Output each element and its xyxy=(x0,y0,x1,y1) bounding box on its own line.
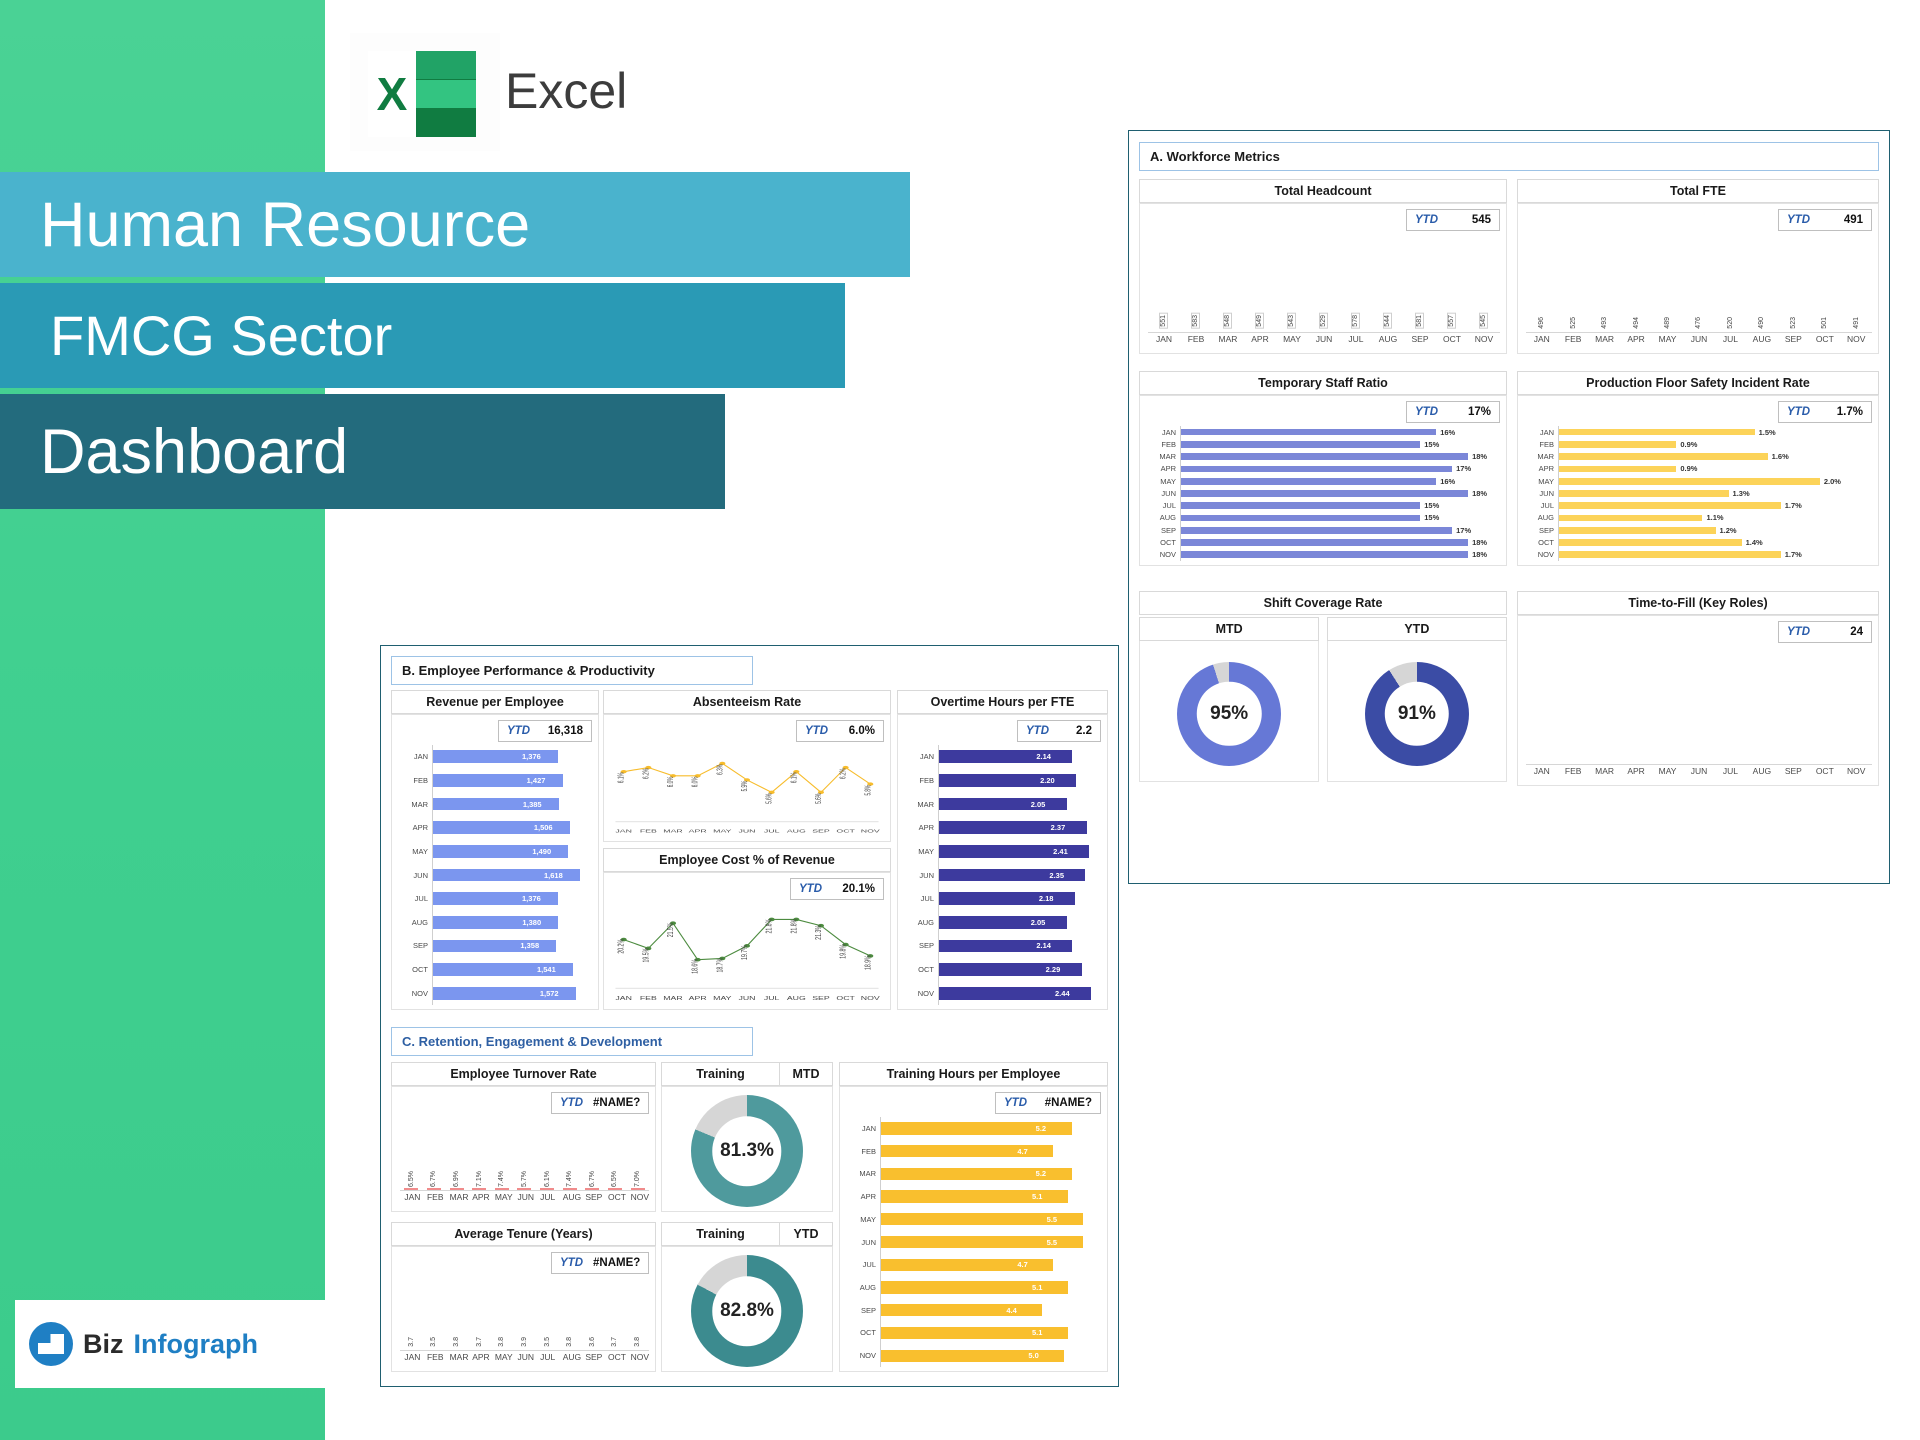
bar-row: OCT 2.29 xyxy=(904,958,1101,982)
kpi-value: #NAME? xyxy=(593,1257,648,1269)
bar-row: JUN 5.5 xyxy=(846,1231,1101,1254)
svg-text:NOV: NOV xyxy=(861,995,880,1002)
bar-fill xyxy=(1181,515,1420,522)
bar-value-label: 1.5% xyxy=(1755,428,1776,437)
axis-tick-label: MAR xyxy=(1218,334,1238,349)
bar-fill xyxy=(1181,527,1452,534)
donut-chart: 95% xyxy=(1177,662,1281,766)
bar-value-label: 1.7% xyxy=(1781,550,1802,559)
axis-tick-label: APR xyxy=(472,1352,486,1367)
line-chart: 20.2%19.5%21.5%18.6%18.7%19.7%21.8%21.8%… xyxy=(610,901,884,1005)
bar-value-label: 523 xyxy=(1790,317,1797,329)
svg-text:APR: APR xyxy=(689,995,707,1002)
bar-category-label: MAR xyxy=(398,800,432,809)
svg-text:JAN: JAN xyxy=(615,828,632,833)
column-chart: 6.5% 6.7% 6.9% 7.1% 7.4% 5.7% 6.1% 7.4% … xyxy=(400,1117,649,1207)
bar-value-label: 3.7 xyxy=(408,1337,415,1347)
bar-value-label: 15% xyxy=(1420,513,1439,522)
donut-chart: 81.3% xyxy=(691,1095,803,1207)
bar-category-label: AUG xyxy=(1524,513,1558,522)
bar-row: NOV 5.0 xyxy=(846,1344,1101,1367)
bar-value-label: 5.5 xyxy=(1043,1215,1057,1224)
axis-tick-label: MAR xyxy=(1595,766,1614,781)
donut-center-label: 82.8% xyxy=(691,1255,803,1367)
bar-category-label: JUN xyxy=(904,871,938,880)
bar-value-label: 1,572 xyxy=(536,989,559,998)
employee-turnover-rate-title: Employee Turnover Rate xyxy=(391,1062,656,1086)
bar-fill xyxy=(939,940,1072,953)
column-chart: 496 525 493 494 489 476 520 490 523 501 … xyxy=(1526,234,1872,349)
bar-row: APR 17% xyxy=(1146,463,1500,475)
bar-row: SEP 1,358 xyxy=(398,934,592,958)
title-band-primary: Human Resource xyxy=(0,172,910,277)
bar-value-label: 551 xyxy=(1159,313,1168,329)
bar-category-label: JUL xyxy=(1146,501,1180,510)
kpi-value: 545 xyxy=(1448,214,1499,226)
axis-tick-label: JAN xyxy=(1532,766,1551,781)
bar-value-label: 1,380 xyxy=(518,918,541,927)
bar-value-label: 2.29 xyxy=(1042,965,1061,974)
bar-category-label: MAR xyxy=(1146,452,1180,461)
bar-row: NOV 18% xyxy=(1146,549,1500,561)
axis-tick-label: JAN xyxy=(1532,334,1551,349)
bar-value-label: 581 xyxy=(1415,313,1424,329)
bar-row: JUN 1.3% xyxy=(1524,487,1872,499)
svg-text:6.0%: 6.0% xyxy=(667,777,676,788)
bar-value-label: 5.0 xyxy=(1024,1351,1038,1360)
axis-tick-label: JUL xyxy=(540,1352,554,1367)
svg-text:18.7%: 18.7% xyxy=(716,958,724,973)
svg-text:SEP: SEP xyxy=(812,828,830,833)
kpi-badge: YTD 16,318 xyxy=(498,720,592,742)
absenteeism_rate-title: Absenteeism Rate xyxy=(603,690,891,714)
bar-category-label: AUG xyxy=(398,918,432,927)
bar-row: MAY 1,490 xyxy=(398,840,592,864)
bar-fill xyxy=(939,798,1067,811)
axis-tick-label: APR xyxy=(1250,334,1270,349)
biz-name-first: Biz xyxy=(83,1329,124,1360)
kpi-badge: YTD 6.0% xyxy=(796,720,884,742)
axis-tick-label: OCT xyxy=(1442,334,1462,349)
bar-fill xyxy=(939,750,1072,763)
bar-fill xyxy=(939,892,1075,905)
bar-fill xyxy=(1181,551,1468,558)
bar-row: AUG 1.1% xyxy=(1524,512,1872,524)
axis-tick-label: NOV xyxy=(1474,334,1494,349)
kpi-label: YTD xyxy=(1779,406,1820,418)
axis-tick-label: MAY xyxy=(1658,334,1677,349)
bar-value-label: 30 xyxy=(1601,753,1608,761)
bar-category-label: APR xyxy=(398,823,432,832)
bar-row: JUN 18% xyxy=(1146,487,1500,499)
horizontal-bar-chart: JAN 2.14 FEB 2.20 MAR 2.05 APR 2.37 MAY … xyxy=(904,745,1101,1005)
total_headcount-title: Total Headcount xyxy=(1139,179,1507,203)
bar-value-label: 30 xyxy=(1853,753,1860,761)
bar-category-label: APR xyxy=(846,1192,880,1201)
overtime_hours_per_fte-plot: YTD 2.2 JAN 2.14 FEB 2.20 MAR 2.05 APR 2… xyxy=(897,714,1108,1010)
bar-value-label: 16% xyxy=(1436,428,1455,437)
title-band-secondary: FMCG Sector xyxy=(0,283,845,388)
title-band-tertiary: Dashboard xyxy=(0,394,725,509)
axis-tick-label: APR xyxy=(472,1192,486,1207)
bar-fill xyxy=(1559,490,1729,497)
temporary_staff_ratio-plot: YTD 17% JAN 16% FEB 15% MAR 18% APR 17% … xyxy=(1139,395,1507,566)
bar-category-label: JAN xyxy=(1524,428,1558,437)
kpi-value: 6.0% xyxy=(838,725,883,737)
svg-text:FEB: FEB xyxy=(640,995,657,1002)
bar-column: 7.4% xyxy=(495,1188,509,1190)
bar-value-label: 2.14 xyxy=(1032,752,1051,761)
revenue_per_employee-plot: YTD 16,318 JAN 1,376 FEB 1,427 MAR 1,385… xyxy=(391,714,599,1010)
svg-text:MAY: MAY xyxy=(713,828,732,833)
bar-value-label: 583 xyxy=(1191,313,1200,329)
bar-value-label: 5.7% xyxy=(521,1171,528,1187)
bar-value-label: 2.37 xyxy=(1047,823,1066,832)
axis-tick-label: AUG xyxy=(563,1352,577,1367)
bar-value-label: 3.6 xyxy=(589,1337,596,1347)
bar-value-label: 3.7 xyxy=(611,1337,618,1347)
biz-name-second: Infograph xyxy=(134,1329,258,1360)
svg-text:OCT: OCT xyxy=(836,995,855,1002)
svg-text:MAR: MAR xyxy=(663,995,682,1002)
bar-category-label: MAR xyxy=(1524,452,1558,461)
svg-text:JUL: JUL xyxy=(764,995,780,1002)
bar-value-label: 3.5 xyxy=(544,1337,551,1347)
column-chart: 551 583 548 549 543 529 578 544 581 557 … xyxy=(1148,234,1500,349)
bar-value-label: 1,385 xyxy=(519,800,542,809)
bar-category-label: NOV xyxy=(846,1351,880,1360)
bar-row: OCT 5.1 xyxy=(846,1322,1101,1345)
bar-category-label: JAN xyxy=(1146,428,1180,437)
bar-row: MAR 1,385 xyxy=(398,792,592,816)
bar-category-label: NOV xyxy=(904,989,938,998)
kpi-label: YTD xyxy=(552,1257,593,1269)
bar-fill xyxy=(1181,441,1420,448)
performance-productivity-panel: B. Employee Performance & Productivity R… xyxy=(380,645,1119,1387)
donut-center-label: 95% xyxy=(1177,662,1281,766)
bar-column: 7.4% xyxy=(563,1188,577,1190)
bar-category-label: FEB xyxy=(1146,440,1180,449)
kpi-label: YTD xyxy=(1779,626,1820,638)
title-line-1: Human Resource xyxy=(0,189,530,261)
training-hours-title: Training Hours per Employee xyxy=(839,1062,1108,1086)
axis-tick-label: APR xyxy=(1626,334,1645,349)
average-tenure-title: Average Tenure (Years) xyxy=(391,1222,656,1246)
bar-row: JAN 16% xyxy=(1146,426,1500,438)
axis-tick-label: JAN xyxy=(1154,334,1174,349)
bar-value-label: 548 xyxy=(1223,313,1232,329)
kpi-value: 24 xyxy=(1820,626,1871,638)
svg-text:MAR: MAR xyxy=(663,828,682,833)
bar-row: AUG 5.1 xyxy=(846,1276,1101,1299)
bar-fill xyxy=(939,774,1076,787)
kpi-label: YTD xyxy=(499,725,540,737)
bar-category-label: JAN xyxy=(846,1124,880,1133)
bar-fill xyxy=(939,916,1067,929)
axis-tick-label: JUN xyxy=(517,1352,531,1367)
svg-text:5.9%: 5.9% xyxy=(741,781,750,792)
svg-text:FEB: FEB xyxy=(640,828,657,833)
safety_incident_rate-title: Production Floor Safety Incident Rate xyxy=(1517,371,1879,395)
axis-tick-label: AUG xyxy=(563,1192,577,1207)
axis-tick-label: MAY xyxy=(1658,766,1677,781)
bar-value-label: 19 xyxy=(1790,753,1797,761)
shift-coverage-group-title: Shift Coverage Rate xyxy=(1139,591,1507,615)
kpi-value: 16,318 xyxy=(540,725,591,737)
bar-row: MAR 5.2 xyxy=(846,1162,1101,1185)
axis-tick-label: MAR xyxy=(450,1192,464,1207)
bar-row: OCT 18% xyxy=(1146,536,1500,548)
bar-value-label: 544 xyxy=(1383,313,1392,329)
bar-value-label: 545 xyxy=(1479,313,1488,329)
bar-value-label: 1.4% xyxy=(1742,538,1763,547)
bar-row: APR 5.1 xyxy=(846,1185,1101,1208)
bar-value-label: 501 xyxy=(1821,317,1828,329)
horizontal-bar-chart: JAN 1.5% FEB 0.9% MAR 1.6% APR 0.9% MAY … xyxy=(1524,426,1872,561)
bar-value-label: 18% xyxy=(1468,452,1487,461)
bar-category-label: MAY xyxy=(398,847,432,856)
excel-icon-letter: X xyxy=(368,51,416,137)
revenue_per_employee-title: Revenue per Employee xyxy=(391,690,599,714)
bar-row: APR 1,506 xyxy=(398,816,592,840)
bar-value-label: 496 xyxy=(1538,317,1545,329)
bar-row: JUL 1,376 xyxy=(398,887,592,911)
bar-row: JUL 15% xyxy=(1146,500,1500,512)
donut-center-label: 91% xyxy=(1365,662,1469,766)
bar-category-label: NOV xyxy=(398,989,432,998)
axis-tick-label: FEB xyxy=(1563,334,1582,349)
kpi-value: 491 xyxy=(1820,214,1871,226)
bar-value-label: 7.4% xyxy=(498,1171,505,1187)
kpi-value: #NAME? xyxy=(1037,1097,1100,1109)
bar-fill xyxy=(1559,551,1781,558)
bar-row: SEP 1.2% xyxy=(1524,524,1872,536)
bar-value-label: 3.9 xyxy=(521,1337,528,1347)
kpi-label: YTD xyxy=(1407,406,1448,418)
bar-fill xyxy=(881,1304,1042,1316)
bar-fill xyxy=(1559,466,1676,473)
training-completion-ytd-title: Training Completion RateYTD xyxy=(661,1222,833,1246)
svg-text:6.3%: 6.3% xyxy=(716,764,725,775)
kpi-value: #NAME? xyxy=(593,1097,648,1109)
kpi-value: 1.7% xyxy=(1820,406,1871,418)
employee_turnover_rate-card: Employee Turnover Rate YTD #NAME? 6.5% 6… xyxy=(391,1062,656,1212)
axis-tick-label: JUN xyxy=(1314,334,1334,349)
svg-text:APR: APR xyxy=(689,828,707,833)
kpi-badge: YTD 24 xyxy=(1778,621,1872,643)
bar-category-label: MAY xyxy=(1146,477,1180,486)
training-completion-mtd-title: Training Completion RateMTD xyxy=(661,1062,833,1086)
axis-tick-label: FEB xyxy=(1186,334,1206,349)
svg-text:21.3%: 21.3% xyxy=(815,925,823,940)
bar-value-label: 5.2 xyxy=(1032,1169,1046,1178)
time_to_fill-card: Time-to-Fill (Key Roles) YTD 24 31 24 30… xyxy=(1517,591,1879,786)
bar-column: 6.5% xyxy=(404,1188,418,1190)
axis-tick-label: AUG xyxy=(1752,766,1771,781)
bar-value-label: 15% xyxy=(1420,501,1439,510)
axis-tick-label: OCT xyxy=(1815,334,1834,349)
bar-fill xyxy=(1559,453,1768,460)
bar-value-label: 6.1% xyxy=(544,1171,551,1187)
axis-tick-label: FEB xyxy=(1563,766,1582,781)
donut-chart: 82.8% xyxy=(691,1255,803,1367)
time_to_fill-title: Time-to-Fill (Key Roles) xyxy=(1517,591,1879,615)
training-hours-plot: YTD #NAME? JAN 5.2 FEB 4.7 MAR 5.2 APR 5… xyxy=(839,1086,1108,1372)
employee_cost_pct_revenue-card: Employee Cost % of Revenue YTD 20.1% 20.… xyxy=(603,848,891,1010)
kpi-badge: YTD #NAME? xyxy=(551,1252,649,1274)
bar-row: JUL 1.7% xyxy=(1524,500,1872,512)
bar-fill xyxy=(1181,429,1436,436)
bar-value-label: 31 xyxy=(1538,753,1545,761)
axis-tick-label: SEP xyxy=(1784,766,1803,781)
total_fte-plot: YTD 491 496 525 493 494 489 476 520 490 … xyxy=(1517,203,1879,354)
shift-coverage-mtd-title: MTD xyxy=(1139,617,1319,641)
total_headcount-card: Total Headcount YTD 545 551 583 548 549 … xyxy=(1139,179,1507,354)
employee_cost_pct_revenue-title: Employee Cost % of Revenue xyxy=(603,848,891,872)
bar-row: SEP 17% xyxy=(1146,524,1500,536)
kpi-badge: YTD #NAME? xyxy=(995,1092,1101,1114)
svg-text:18.6%: 18.6% xyxy=(692,959,700,974)
temporary_staff_ratio-card: Temporary Staff Ratio YTD 17% JAN 16% FE… xyxy=(1139,371,1507,566)
biz-logo-icon xyxy=(29,1322,73,1366)
svg-text:19.5%: 19.5% xyxy=(642,948,650,963)
bar-row: MAR 1.6% xyxy=(1524,451,1872,463)
kpi-badge: YTD 17% xyxy=(1406,401,1500,423)
bar-value-label: 5.5 xyxy=(1043,1238,1057,1247)
kpi-badge: YTD #NAME? xyxy=(551,1092,649,1114)
bar-value-label: 2.44 xyxy=(1051,989,1070,998)
svg-text:JAN: JAN xyxy=(615,995,632,1002)
bar-category-label: SEP xyxy=(1524,526,1558,535)
bar-fill xyxy=(1181,539,1468,546)
bar-row: APR 0.9% xyxy=(1524,463,1872,475)
bar-value-label: 3.8 xyxy=(566,1337,573,1347)
bar-row: JAN 2.14 xyxy=(904,745,1101,769)
bar-category-label: JUL xyxy=(1524,501,1558,510)
kpi-value: 20.1% xyxy=(832,883,883,895)
bar-category-label: SEP xyxy=(398,941,432,950)
bar-category-label: FEB xyxy=(846,1147,880,1156)
bar-row: FEB 0.9% xyxy=(1524,438,1872,450)
axis-tick-label: SEP xyxy=(1784,334,1803,349)
bar-value-label: 1,376 xyxy=(518,752,541,761)
kpi-label: YTD xyxy=(552,1097,593,1109)
kpi-label: YTD xyxy=(791,883,832,895)
bar-row: MAY 16% xyxy=(1146,475,1500,487)
column-chart: 31 24 30 31 19 19 23 18 19 30 30JANFEBMA… xyxy=(1526,646,1872,781)
bar-value-label: 1,506 xyxy=(530,823,553,832)
axis-tick-label: JUL xyxy=(1721,766,1740,781)
bar-value-label: 549 xyxy=(1255,313,1264,329)
bar-row: NOV 1.7% xyxy=(1524,549,1872,561)
bar-row: SEP 2.14 xyxy=(904,934,1101,958)
bar-fill xyxy=(1559,539,1742,546)
axis-tick-label: AUG xyxy=(1378,334,1398,349)
bar-value-label: 1,618 xyxy=(540,871,563,880)
training_completion_ytd-card: Training Completion RateYTD 82.8% xyxy=(661,1222,833,1372)
shift-coverage-ytd-title: YTD xyxy=(1327,617,1507,641)
axis-tick-label: OCT xyxy=(608,1352,622,1367)
axis-tick-label: JUL xyxy=(1346,334,1366,349)
svg-text:5.6%: 5.6% xyxy=(815,793,824,804)
kpi-badge: YTD 1.7% xyxy=(1778,401,1872,423)
bar-column: 6.5% xyxy=(608,1188,622,1190)
bar-category-label: MAR xyxy=(904,800,938,809)
bar-category-label: JAN xyxy=(398,752,432,761)
axis-tick-label: NOV xyxy=(631,1192,645,1207)
bar-value-label: 525 xyxy=(1570,317,1577,329)
bar-row: AUG 15% xyxy=(1146,512,1500,524)
bar-category-label: AUG xyxy=(846,1283,880,1292)
kpi-label: YTD xyxy=(1018,725,1059,737)
bar-value-label: 1.1% xyxy=(1702,513,1723,522)
bar-column: 6.1% xyxy=(540,1188,554,1190)
bar-value-label: 31 xyxy=(1633,753,1640,761)
bar-value-label: 6.7% xyxy=(430,1171,437,1187)
temporary_staff_ratio-title: Temporary Staff Ratio xyxy=(1139,371,1507,395)
bar-value-label: 15% xyxy=(1420,440,1439,449)
bar-row: APR 2.37 xyxy=(904,816,1101,840)
bar-value-label: 30 xyxy=(1821,753,1828,761)
average_tenure_years-card: Average Tenure (Years) YTD #NAME? 3.7 3.… xyxy=(391,1222,656,1372)
axis-tick-label: SEP xyxy=(585,1352,599,1367)
bar-category-label: NOV xyxy=(1524,550,1558,559)
donut-chart: 91% xyxy=(1365,662,1469,766)
bar-row: JUL 2.18 xyxy=(904,887,1101,911)
bar-value-label: 529 xyxy=(1319,313,1328,329)
axis-tick-label: JAN xyxy=(404,1352,418,1367)
bar-column: 7.0% xyxy=(631,1188,645,1190)
bar-category-label: MAY xyxy=(846,1215,880,1224)
bar-category-label: JAN xyxy=(904,752,938,761)
line-chart: 6.1%6.2%6.0%6.0%6.3%5.9%5.6%6.1%5.6%6.2%… xyxy=(610,743,884,837)
bar-fill xyxy=(1559,429,1755,436)
svg-text:6.0%: 6.0% xyxy=(691,777,700,788)
bar-fill xyxy=(1559,502,1781,509)
bar-value-label: 543 xyxy=(1287,313,1296,329)
bar-category-label: FEB xyxy=(1524,440,1558,449)
bar-fill xyxy=(1181,478,1436,485)
horizontal-bar-chart: JAN 1,376 FEB 1,427 MAR 1,385 APR 1,506 … xyxy=(398,745,592,1005)
bar-column: 6.9% xyxy=(450,1188,464,1190)
bar-value-label: 0.9% xyxy=(1676,440,1697,449)
svg-text:OCT: OCT xyxy=(836,828,855,833)
bar-row: MAY 5.5 xyxy=(846,1208,1101,1231)
bar-value-label: 3.7 xyxy=(476,1337,483,1347)
bar-category-label: SEP xyxy=(846,1306,880,1315)
kpi-value: 17% xyxy=(1448,406,1499,418)
bar-fill xyxy=(1181,453,1468,460)
axis-tick-label: JUN xyxy=(1689,334,1708,349)
bar-value-label: 7.4% xyxy=(566,1171,573,1187)
bar-value-label: 1,541 xyxy=(533,965,556,974)
bar-fill xyxy=(1181,502,1420,509)
bar-row: MAY 2.0% xyxy=(1524,475,1872,487)
total_fte-card: Total FTE YTD 491 496 525 493 494 489 47… xyxy=(1517,179,1879,354)
bar-value-label: 3.8 xyxy=(453,1337,460,1347)
bar-category-label: JUN xyxy=(1146,489,1180,498)
bar-value-label: 7.0% xyxy=(634,1171,641,1187)
time_to_fill-plot: YTD 24 31 24 30 31 19 19 23 18 19 30 30J… xyxy=(1517,615,1879,786)
horizontal-bar-chart: JAN 5.2 FEB 4.7 MAR 5.2 APR 5.1 MAY 5.5 … xyxy=(846,1117,1101,1367)
bar-category-label: MAR xyxy=(846,1169,880,1178)
bar-row: MAR 18% xyxy=(1146,451,1500,463)
bar-category-label: AUG xyxy=(1146,513,1180,522)
svg-text:SEP: SEP xyxy=(812,995,830,1002)
bar-value-label: 6.5% xyxy=(408,1171,415,1187)
bar-value-label: 2.35 xyxy=(1045,871,1064,880)
bar-fill xyxy=(1559,441,1676,448)
